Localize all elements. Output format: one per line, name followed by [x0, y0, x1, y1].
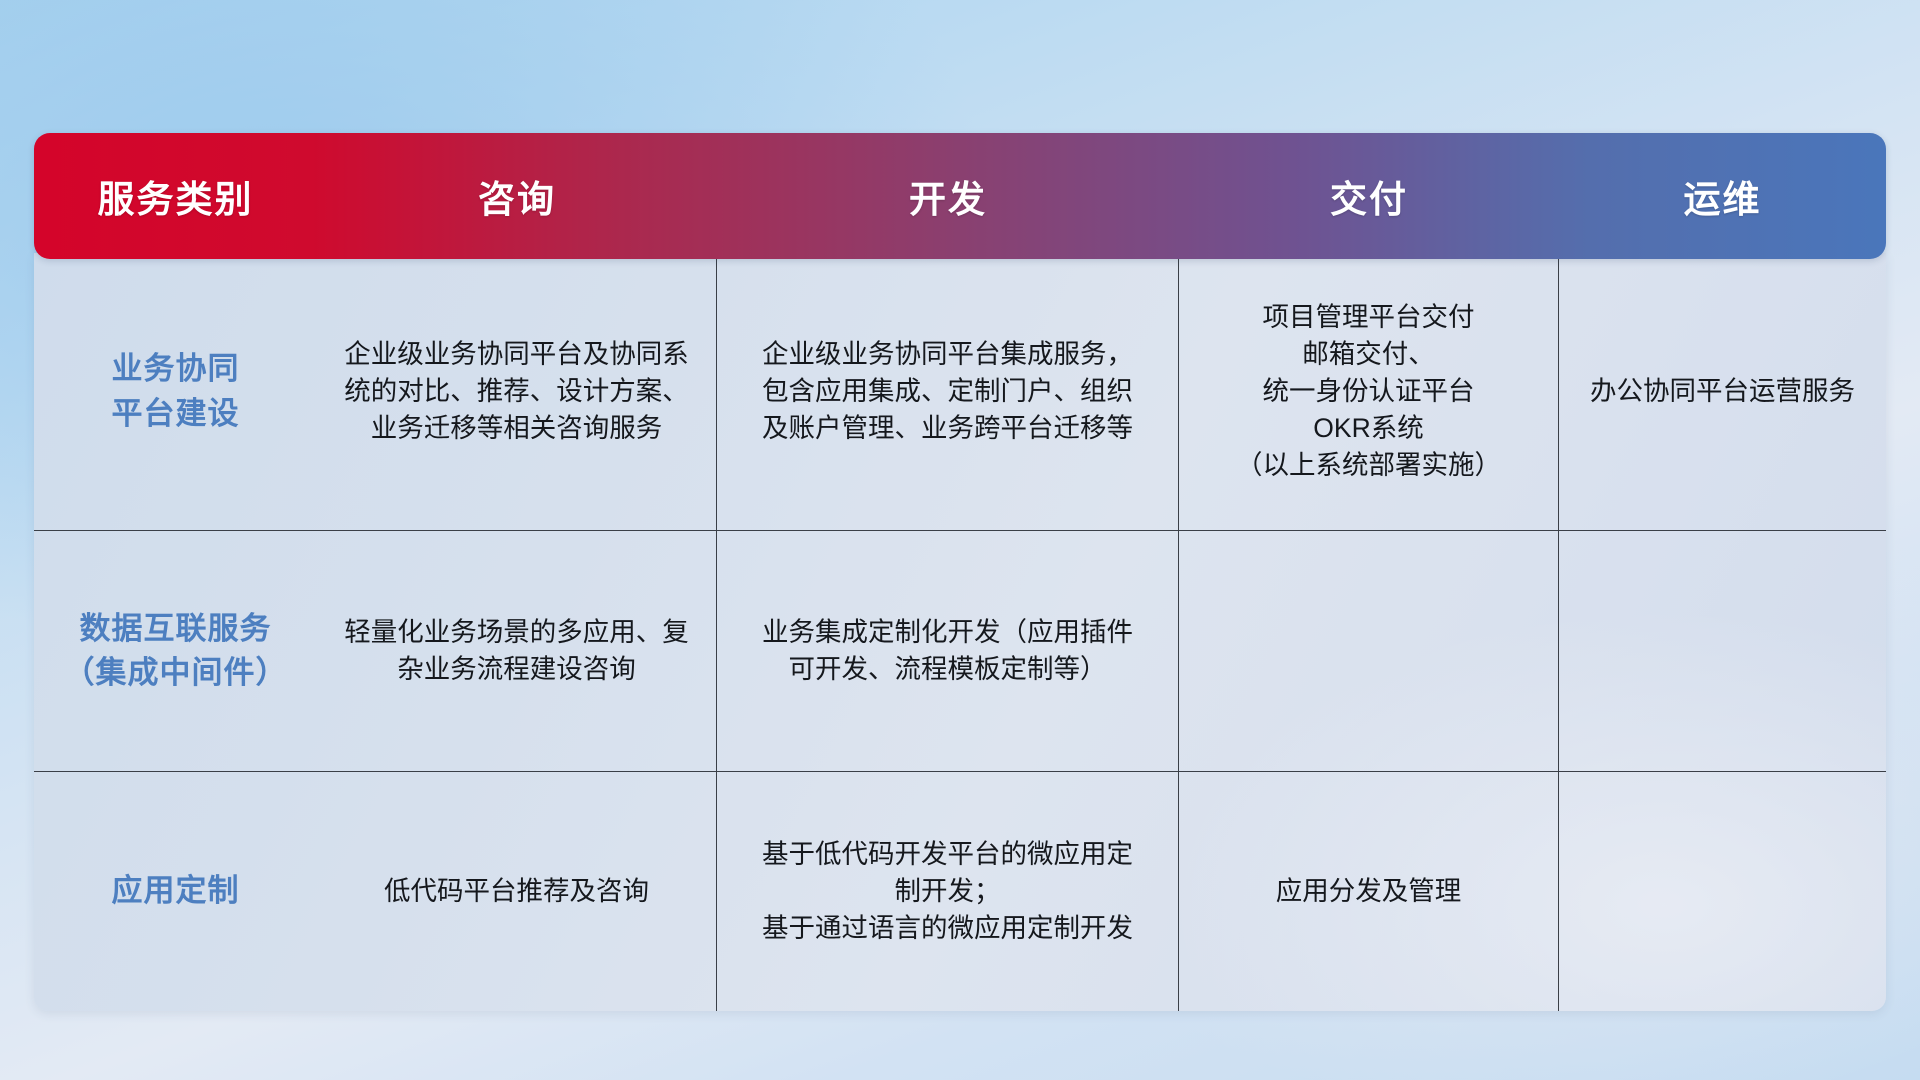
cell-delivery: 项目管理平台交付 邮箱交付、 统一身份认证平台 OKR系统 （以上系统部署实施）	[1179, 253, 1559, 530]
cell-consulting: 轻量化业务场景的多应用、复 杂业务流程建设咨询	[317, 531, 717, 771]
cell-development: 基于低代码开发平台的微应用定 制开发； 基于通过语言的微应用定制开发	[717, 772, 1179, 1011]
cell-operations	[1559, 531, 1886, 771]
row-label-cell: 数据互联服务 （集成中间件）	[34, 531, 317, 771]
table-header-row: 服务类别 咨询 开发 交付 运维	[34, 133, 1886, 259]
column-header-development: 开发	[717, 133, 1179, 259]
row-label-cell: 业务协同 平台建设	[34, 253, 317, 530]
cell-development: 业务集成定制化开发（应用插件 可开发、流程模板定制等）	[717, 531, 1179, 771]
cell-delivery: 应用分发及管理	[1179, 772, 1559, 1011]
cell-development: 企业级业务协同平台集成服务， 包含应用集成、定制门户、组织 及账户管理、业务跨平…	[717, 253, 1179, 530]
table-row: 数据互联服务 （集成中间件） 轻量化业务场景的多应用、复 杂业务流程建设咨询 业…	[34, 531, 1886, 772]
service-matrix-table: 服务类别 咨询 开发 交付 运维 业务协同 平台建设 企业级业务协同平台及协同系…	[34, 133, 1886, 966]
table-row: 业务协同 平台建设 企业级业务协同平台及协同系 统的对比、推荐、设计方案、 业务…	[34, 253, 1886, 531]
column-header-category: 服务类别	[34, 133, 317, 259]
cell-operations: 办公协同平台运营服务	[1559, 253, 1886, 530]
row-label-cell: 应用定制	[34, 772, 317, 1011]
column-header-operations: 运维	[1559, 133, 1886, 259]
table-body: 业务协同 平台建设 企业级业务协同平台及协同系 统的对比、推荐、设计方案、 业务…	[34, 253, 1886, 1011]
column-header-consulting: 咨询	[317, 133, 717, 259]
table-row: 应用定制 低代码平台推荐及咨询 基于低代码开发平台的微应用定 制开发； 基于通过…	[34, 772, 1886, 1011]
column-header-delivery: 交付	[1179, 133, 1559, 259]
cell-consulting: 企业级业务协同平台及协同系 统的对比、推荐、设计方案、 业务迁移等相关咨询服务	[317, 253, 717, 530]
slide-canvas: 服务类别 咨询 开发 交付 运维 业务协同 平台建设 企业级业务协同平台及协同系…	[0, 0, 1920, 1080]
cell-operations	[1559, 772, 1886, 1011]
cell-delivery	[1179, 531, 1559, 771]
cell-consulting: 低代码平台推荐及咨询	[317, 772, 717, 1011]
